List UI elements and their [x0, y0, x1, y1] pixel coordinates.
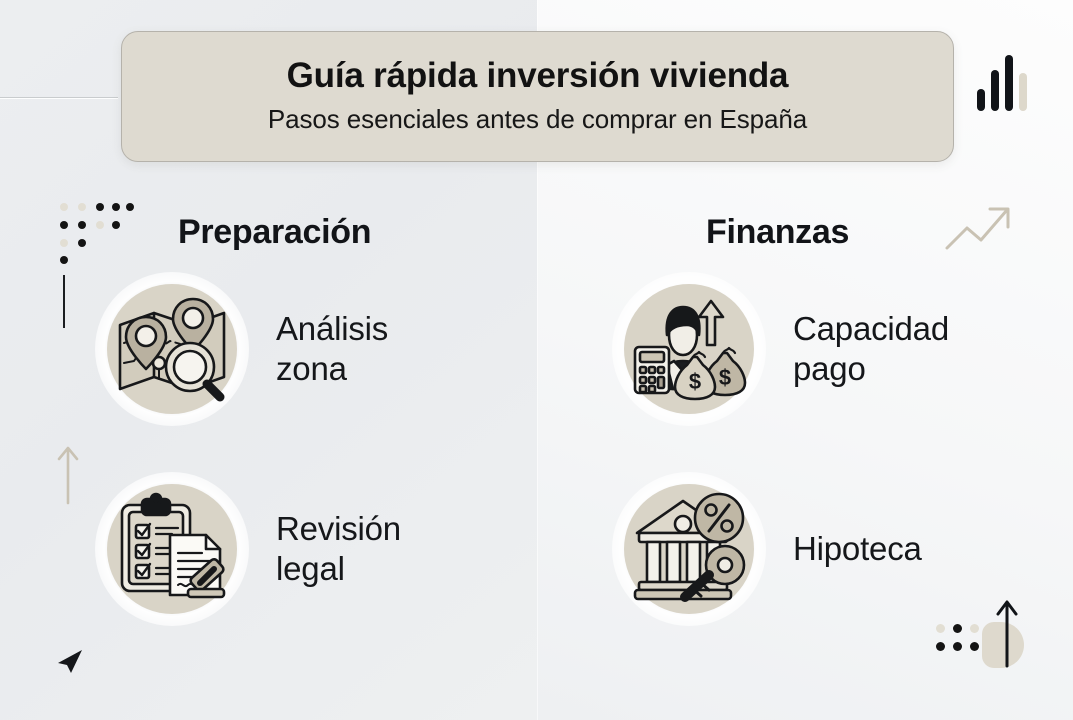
- dot-grid-icon: [60, 203, 132, 265]
- bar-chart-bar-2: [991, 70, 999, 111]
- step-icon-container: [612, 472, 766, 626]
- bank-percent-key-icon: [631, 491, 747, 607]
- column-heading-finanzas: Finanzas: [706, 213, 849, 252]
- arrow-up-icon: [54, 443, 82, 505]
- step-label: Análisis zona: [276, 309, 388, 390]
- step-icon-container: [95, 272, 249, 426]
- clipboard-document-gavel-icon: [114, 491, 230, 607]
- step-icon-container: $ $: [612, 272, 766, 426]
- step-item[interactable]: Análisis zona: [95, 272, 388, 426]
- vertical-rule: [63, 275, 65, 328]
- page-title: Guía rápida inversión vivienda: [287, 58, 789, 95]
- infographic-canvas: Guía rápida inversión vivienda Pasos ese…: [0, 0, 1073, 720]
- bar-chart-bar-4: [1019, 73, 1027, 111]
- person-calculator-moneybags-icon: $ $: [631, 291, 747, 407]
- step-label: Hipoteca: [793, 529, 922, 569]
- edge-rule-highlight: [0, 98, 118, 99]
- arrow-up-icon: [994, 596, 1020, 668]
- step-label: Revisión legal: [276, 509, 401, 590]
- step-icon-container: [95, 472, 249, 626]
- step-item[interactable]: Hipoteca: [612, 472, 922, 626]
- bar-chart-bar-1: [977, 89, 985, 111]
- cursor-arrow-icon: [52, 644, 86, 678]
- column-heading-preparacion: Preparación: [178, 213, 371, 252]
- bottom-right-decoration: [936, 596, 1040, 684]
- title-card: Guía rápida inversión vivienda Pasos ese…: [121, 31, 954, 162]
- svg-text:$: $: [719, 365, 731, 390]
- step-item[interactable]: $ $ Capacidad pago: [612, 272, 949, 426]
- bar-chart-icon: [977, 55, 1029, 111]
- svg-text:$: $: [689, 369, 701, 394]
- bar-chart-bar-3: [1005, 55, 1013, 111]
- trending-up-icon: [943, 200, 1015, 256]
- step-item[interactable]: Revisión legal: [95, 472, 401, 626]
- page-subtitle: Pasos esenciales antes de comprar en Esp…: [268, 104, 807, 135]
- step-label: Capacidad pago: [793, 309, 949, 390]
- map-location-search-icon: [114, 291, 230, 407]
